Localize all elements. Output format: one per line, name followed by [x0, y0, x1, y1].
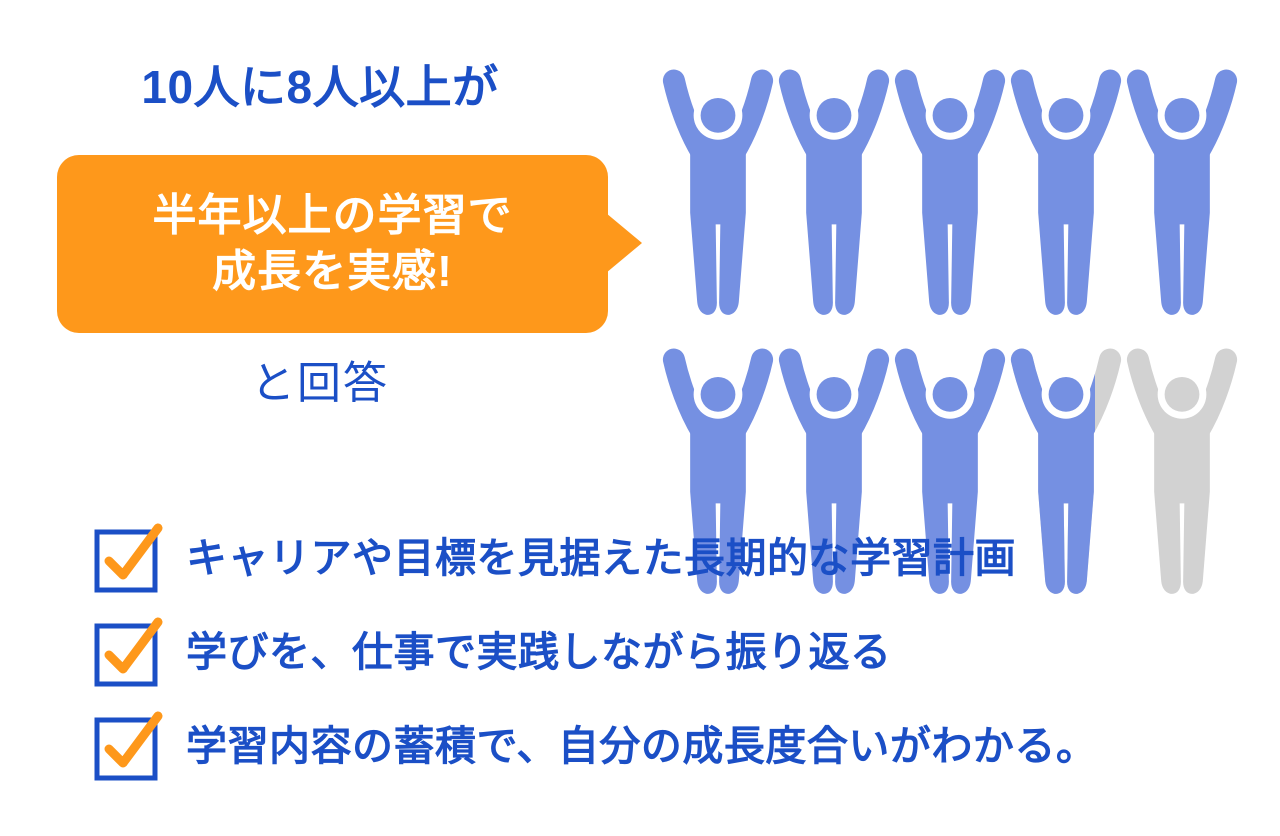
checkbox-svg	[92, 523, 164, 595]
person-figure	[892, 62, 1008, 329]
person-icon	[1008, 62, 1124, 329]
checklist-item-label: 学びを、仕事で実践しながら振り返る	[186, 629, 892, 676]
checklist-item[interactable]: キャリアや目標を見据えた長期的な学習計画	[92, 516, 1212, 602]
person-figure	[776, 62, 892, 329]
headline-text: 10人に8人以上が	[0, 62, 640, 113]
checkbox-checked-icon[interactable]	[92, 617, 164, 689]
speech-bubble-text: 半年以上の学習で 成長を実感!	[153, 188, 513, 301]
speech-bubble: 半年以上の学習で 成長を実感!	[57, 155, 608, 333]
checklist-item[interactable]: 学習内容の蓄積で、自分の成長度合いがわかる。	[92, 704, 1212, 790]
person-icon	[1124, 62, 1240, 329]
person-icon	[660, 62, 776, 329]
checklist-item-label: キャリアや目標を見据えた長期的な学習計画	[186, 535, 1016, 582]
infographic-canvas: 10人に8人以上が 半年以上の学習で 成長を実感! と回答 キャリアや目標を見据…	[0, 0, 1280, 836]
answer-text: と回答	[0, 360, 640, 408]
checkbox-checked-icon[interactable]	[92, 523, 164, 595]
checklist-item[interactable]: 学びを、仕事で実践しながら振り返る	[92, 610, 1212, 696]
checklist-item-label: 学習内容の蓄積で、自分の成長度合いがわかる。	[186, 723, 1097, 770]
checklist: キャリアや目標を見据えた長期的な学習計画学びを、仕事で実践しながら振り返る学習内…	[92, 516, 1212, 798]
person-figure	[660, 62, 776, 329]
statistic-block: 10人に8人以上が 半年以上の学習で 成長を実感! と回答	[0, 0, 660, 470]
person-figure	[1008, 62, 1124, 329]
person-icon	[776, 62, 892, 329]
person-figure	[1124, 62, 1240, 329]
checkbox-checked-icon[interactable]	[92, 711, 164, 783]
people-pictogram	[660, 62, 1240, 422]
speech-bubble-tail	[606, 213, 642, 273]
checkbox-svg	[92, 711, 164, 783]
checkbox-svg	[92, 617, 164, 689]
person-icon	[892, 62, 1008, 329]
